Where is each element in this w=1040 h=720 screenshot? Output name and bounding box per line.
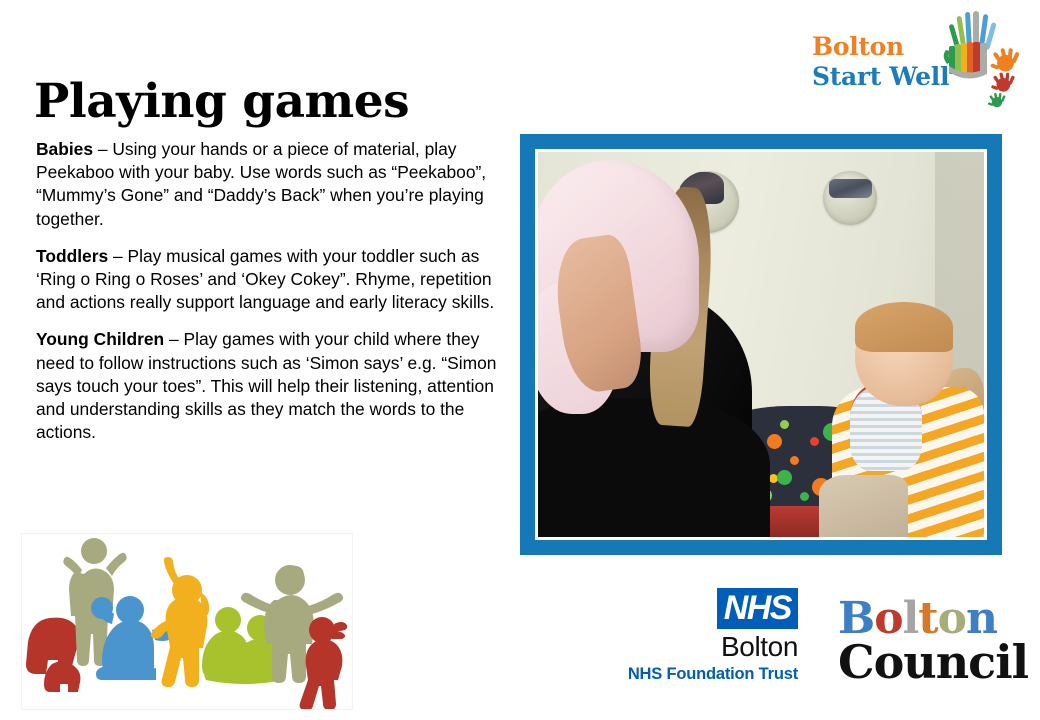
cushion-motif [790, 456, 799, 465]
nhs-mark: NHS [717, 588, 798, 629]
child-silhouette-yellow-standing [151, 557, 209, 687]
council-wordmark-council: Council [838, 638, 1034, 686]
photo-frame [520, 134, 1002, 555]
cushion-motif [767, 434, 782, 449]
nhs-bolton-logo: NHS Bolton NHS Foundation Trust [612, 588, 798, 694]
woman-lap [538, 398, 770, 537]
children-silhouettes-graphic [22, 534, 352, 709]
peekaboo-photo [538, 152, 984, 537]
cushion-motif [810, 437, 819, 446]
bsw-line-start-well: Start Well [812, 62, 949, 92]
page-title: Playing games [34, 77, 409, 126]
bolton-council-logo: Bolton Council [838, 596, 1034, 696]
paragraph-lead-toddlers: Toddlers [36, 246, 108, 266]
nhs-site-name: Bolton [612, 631, 798, 663]
multicolour-hands-icon [932, 10, 1028, 114]
photo-inner-border [535, 149, 987, 540]
cushion-motif [800, 492, 809, 501]
nhs-strapline: NHS Foundation Trust [612, 664, 798, 684]
baby-trousers [819, 475, 908, 537]
body-copy: Babies – Using your hands or a piece of … [36, 138, 514, 458]
children-silhouettes-svg [22, 534, 352, 709]
wall-porthole-right [823, 171, 877, 225]
child-silhouette-red-crawling [26, 618, 80, 692]
paragraph-young-children: Young Children – Play games with your ch… [36, 328, 514, 444]
cushion-motif [777, 470, 792, 485]
baby-hair [855, 302, 953, 352]
bolton-start-well-wordmark: Bolton Start Well [812, 32, 949, 92]
bsw-line-bolton: Bolton [812, 32, 949, 62]
paragraph-text-babies: – Using your hands or a piece of materia… [36, 139, 486, 229]
cushion-motif [780, 420, 789, 429]
paragraph-babies: Babies – Using your hands or a piece of … [36, 138, 514, 231]
paragraph-lead-babies: Babies [36, 139, 93, 159]
bolton-start-well-logo: Bolton Start Well [812, 22, 1026, 114]
paragraph-toddlers: Toddlers – Play musical games with your … [36, 245, 514, 315]
paragraph-lead-young-children: Young Children [36, 329, 164, 349]
